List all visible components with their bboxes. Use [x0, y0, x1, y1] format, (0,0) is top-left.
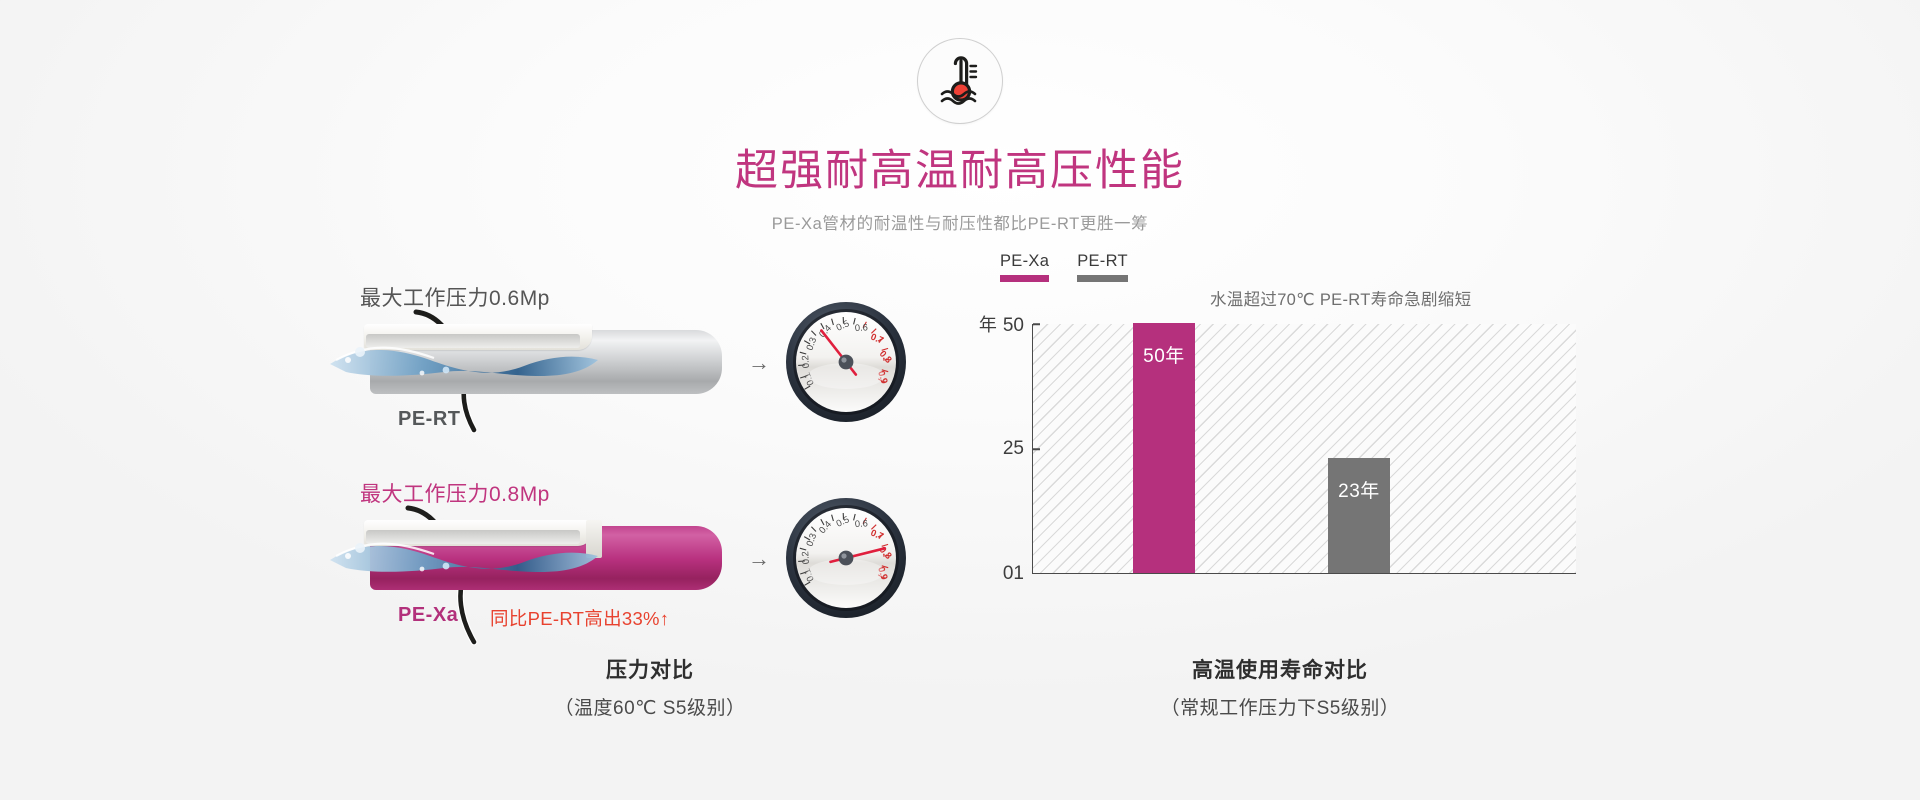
- legend-label-pexa: PE-Xa: [1000, 252, 1049, 271]
- thermometer-water-icon: [917, 38, 1003, 124]
- y-axis-unit: 年: [979, 315, 997, 335]
- pressure-caption: 压力对比 （温度60℃ S5级别）: [330, 654, 970, 720]
- y-tick-25-label: 25: [1003, 438, 1024, 459]
- lifetime-chart-panel: PE-Xa PE-RT 水温超过70℃ PE-RT寿命急剧缩短 年50 25: [960, 262, 1600, 682]
- page-title: 超强耐高温耐高压性能: [0, 146, 1920, 197]
- pipe-label-pexa: PE-Xa: [398, 604, 458, 627]
- pexa-gain-label: 同比PE-RT高出33%↑: [490, 605, 669, 631]
- y-tick-mark-50: [1033, 323, 1040, 325]
- bar-pert: 23年: [1328, 458, 1390, 573]
- pipe-pexa: [370, 526, 722, 590]
- svg-text:0.6: 0.6: [855, 321, 869, 333]
- legend-label-pert: PE-RT: [1077, 252, 1128, 271]
- y-tick-0: 01: [1003, 563, 1033, 585]
- y-tick-0-label: 01: [1003, 563, 1024, 584]
- pressure-gauge-pert: 0.1 0.2 0.3 0.4 0.5 0.6 0.7 0.8 0.9: [782, 298, 910, 426]
- pipe-row-pexa: 最大工作压力0.8Mp: [330, 478, 970, 638]
- svg-text:0.2: 0.2: [799, 355, 811, 369]
- chart-plot-area: 年50 25 01 50年 23年: [1032, 324, 1576, 574]
- bar-value-pert: 23年: [1328, 476, 1390, 503]
- svg-text:0.2: 0.2: [799, 551, 811, 565]
- y-tick-25: 25: [1003, 438, 1033, 460]
- water-flow-icon: [326, 334, 626, 392]
- flow-arrow-pexa-icon: →: [748, 548, 770, 570]
- flow-arrow-pert-icon: →: [748, 352, 770, 374]
- chart-annotation: 水温超过70℃ PE-RT寿命急剧缩短: [1210, 286, 1471, 310]
- svg-text:0.6: 0.6: [855, 517, 869, 529]
- chart-caption-sub: （常规工作压力下S5级别）: [960, 693, 1600, 720]
- header: 超强耐高温耐高压性能 PE-Xa管材的耐温性与耐压性都比PE-RT更胜一筹: [0, 0, 1920, 234]
- water-flow-icon-2: [326, 530, 626, 588]
- pressure-gauge-pexa: 0.1 0.2 0.3 0.4 0.5 0.6 0.7 0.8 0.9: [782, 494, 910, 622]
- legend-swatch-pert: [1077, 275, 1128, 282]
- pipe-row-pert: 最大工作压力0.6Mp: [330, 282, 970, 442]
- page-subtitle: PE-Xa管材的耐温性与耐压性都比PE-RT更胜一筹: [0, 210, 1920, 234]
- pressure-caption-title: 压力对比: [330, 654, 970, 684]
- pressure-caption-sub: （温度60℃ S5级别）: [330, 693, 970, 720]
- bar-pexa: 50年: [1133, 323, 1195, 573]
- chart-caption-title: 高温使用寿命对比: [960, 654, 1600, 684]
- y-tick-mark-25: [1033, 448, 1040, 450]
- y-tick-50: 年50: [979, 311, 1033, 337]
- main-content: 最大工作压力0.6Mp: [0, 262, 1920, 742]
- y-tick-50-label: 50: [1003, 315, 1024, 336]
- legend-swatch-pexa: [1000, 275, 1049, 282]
- pipe-pert: [370, 330, 722, 394]
- chart-legend: PE-Xa PE-RT: [1000, 252, 1128, 282]
- pipe-label-pert: PE-RT: [398, 408, 461, 431]
- legend-item-pexa: PE-Xa: [1000, 252, 1049, 282]
- pressure-comparison-panel: 最大工作压力0.6Mp: [330, 262, 970, 682]
- bar-value-pexa: 50年: [1133, 341, 1195, 368]
- chart-plot-wrapper: 年50 25 01 50年 23年: [1032, 324, 1576, 574]
- chart-caption: 高温使用寿命对比 （常规工作压力下S5级别）: [960, 654, 1600, 720]
- legend-item-pert: PE-RT: [1077, 252, 1128, 282]
